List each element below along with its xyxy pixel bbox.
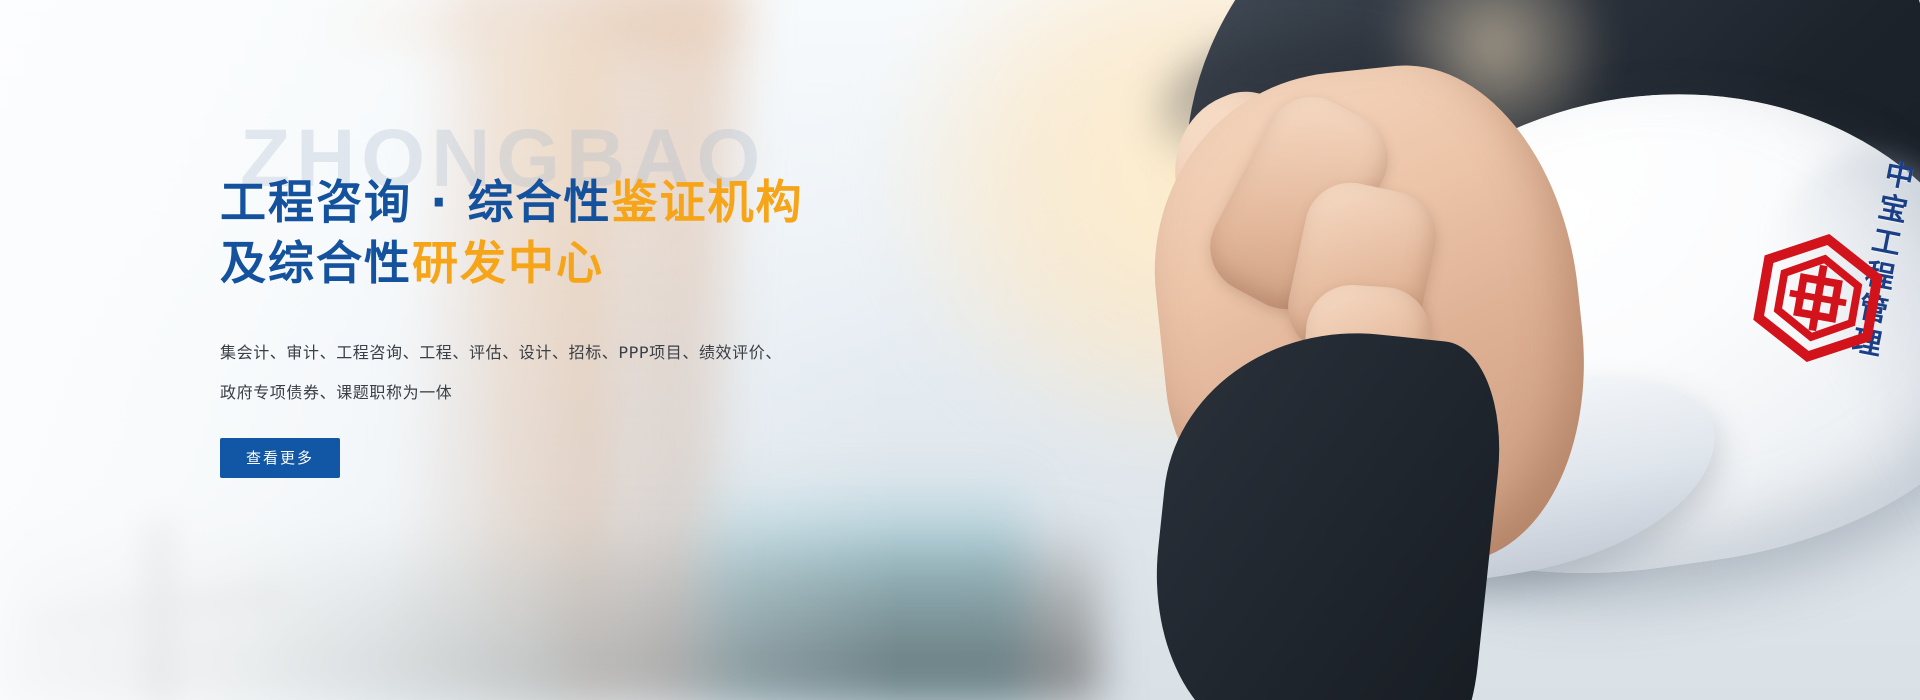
zhongbao-hexagon-logo-icon [1742, 222, 1895, 375]
worker-photo: 中宝工程管理 [860, 0, 1920, 700]
headline-line-1: 工程咨询 · 综合性鉴证机构 [220, 172, 940, 233]
headline-line-1-orange: 鉴证机构 [612, 175, 804, 229]
hero-description: 集会计、审计、工程咨询、工程、评估、设计、招标、PPP项目、绩效评价、 政府专项… [220, 333, 840, 411]
hero-description-line-1: 集会计、审计、工程咨询、工程、评估、设计、招标、PPP项目、绩效评价、 [220, 333, 840, 372]
headline-line-2: 及综合性研发中心 [220, 233, 940, 294]
headline-line-2-orange: 研发中心 [412, 236, 604, 290]
view-more-button[interactable]: 查看更多 [220, 438, 340, 478]
page-title: 工程咨询 · 综合性鉴证机构 及综合性研发中心 [220, 110, 940, 293]
headline-line-2-blue: 及综合性 [220, 236, 412, 290]
hero-description-line-2: 政府专项债券、课题职称为一体 [220, 373, 840, 412]
hero-content: ZHONGBAO 工程咨询 · 综合性鉴证机构 及综合性研发中心 集会计、审计、… [220, 110, 940, 478]
headline-line-1-blue: 工程咨询 · 综合性 [220, 175, 612, 229]
hero-banner: 中宝工程管理 ZHONGBAO 工程咨询 · 综合性鉴证机构 及综合性研发中心 [0, 0, 1920, 700]
